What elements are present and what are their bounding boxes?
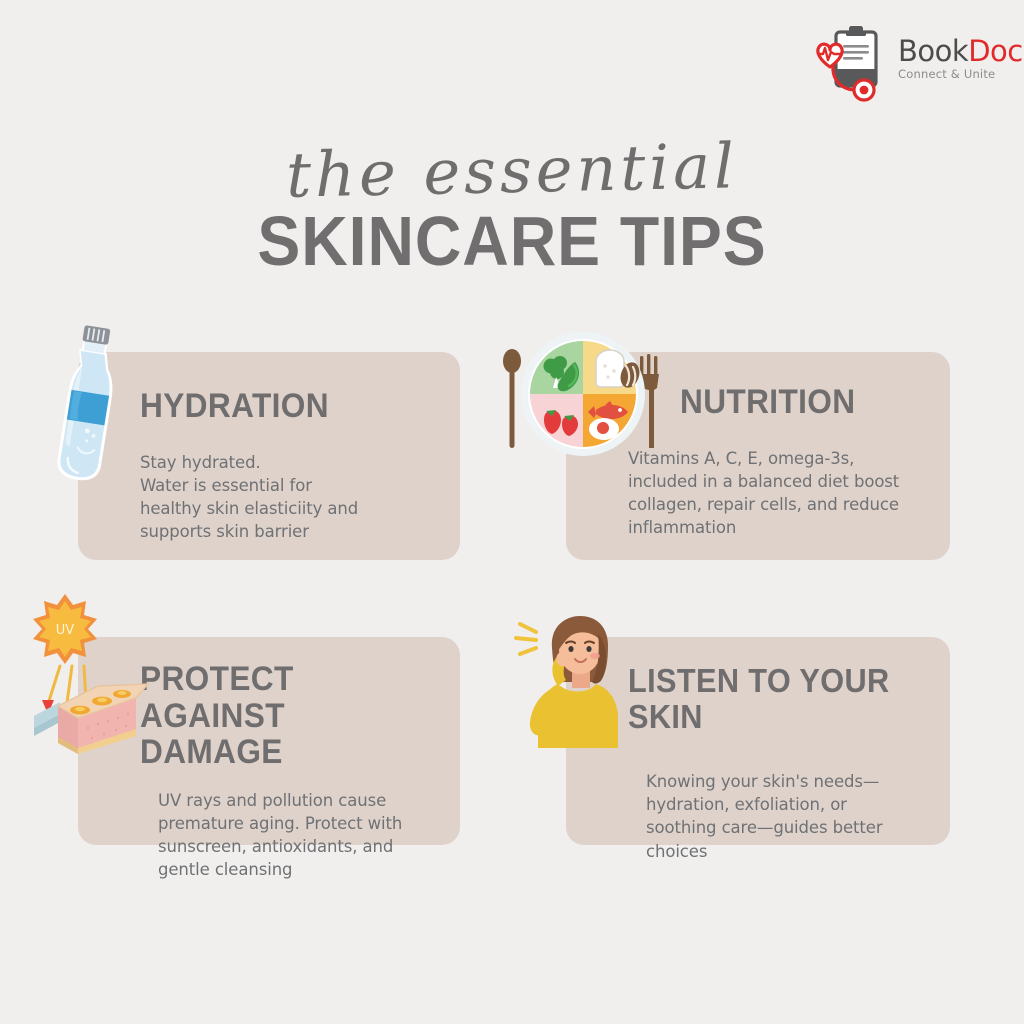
logo-tagline: Connect & Unite xyxy=(898,69,1023,81)
title-script-line: the essential xyxy=(0,129,1024,212)
page-title: the essential SKINCARE TIPS xyxy=(0,140,1024,276)
uv-badge-label: UV xyxy=(56,623,75,638)
spoon xyxy=(503,349,521,448)
tip-card-heading: PROTECT AGAINST DAMAGE xyxy=(140,661,421,771)
logo-name: BookDoc xyxy=(898,37,1023,66)
uv-rays-skin-icon: UV xyxy=(18,588,158,758)
tip-card-text: NUTRITION Vitamins A, C, E, omega-3s, in… xyxy=(628,352,932,560)
tip-card-text: HYDRATION Stay hydrated. Water is essent… xyxy=(140,352,442,560)
logo-wordmark: BookDoc Connect & Unite xyxy=(898,37,1023,87)
fried-egg xyxy=(589,418,619,440)
tip-card-body: Stay hydrated. Water is essential for he… xyxy=(140,451,442,543)
bread-slice xyxy=(596,350,624,387)
tip-card-heading: NUTRITION xyxy=(680,384,914,421)
tip-card-body: Knowing your skin's needs— hydration, ex… xyxy=(646,770,932,862)
tip-card-text: PROTECT AGAINST DAMAGE UV rays and pollu… xyxy=(140,637,442,845)
balanced-plate-icon xyxy=(500,328,666,468)
tip-card-hydration[interactable]: HYDRATION Stay hydrated. Water is essent… xyxy=(78,352,460,560)
clipboard-heart-stethoscope-icon xyxy=(812,22,890,102)
sound-lines xyxy=(516,624,536,654)
tip-card-text: LISTEN TO YOUR SKIN Knowing your skin's … xyxy=(628,637,932,845)
uv-sunburst-icon: UV xyxy=(33,594,97,664)
tip-card-body: Vitamins A, C, E, omega-3s, included in … xyxy=(628,447,932,539)
logo-name-book: Book xyxy=(898,34,968,68)
tip-card-heading: LISTEN TO YOUR SKIN xyxy=(628,663,911,734)
woman-listening-icon xyxy=(510,608,640,748)
tip-card-heading: HYDRATION xyxy=(140,388,421,425)
title-main-line: SKINCARE TIPS xyxy=(41,206,983,276)
water-bottle-icon xyxy=(36,322,132,492)
brand-logo[interactable]: BookDoc Connect & Unite xyxy=(812,22,1012,102)
tip-card-body: UV rays and pollution cause premature ag… xyxy=(158,789,442,881)
logo-name-doc: Doc xyxy=(968,34,1023,68)
